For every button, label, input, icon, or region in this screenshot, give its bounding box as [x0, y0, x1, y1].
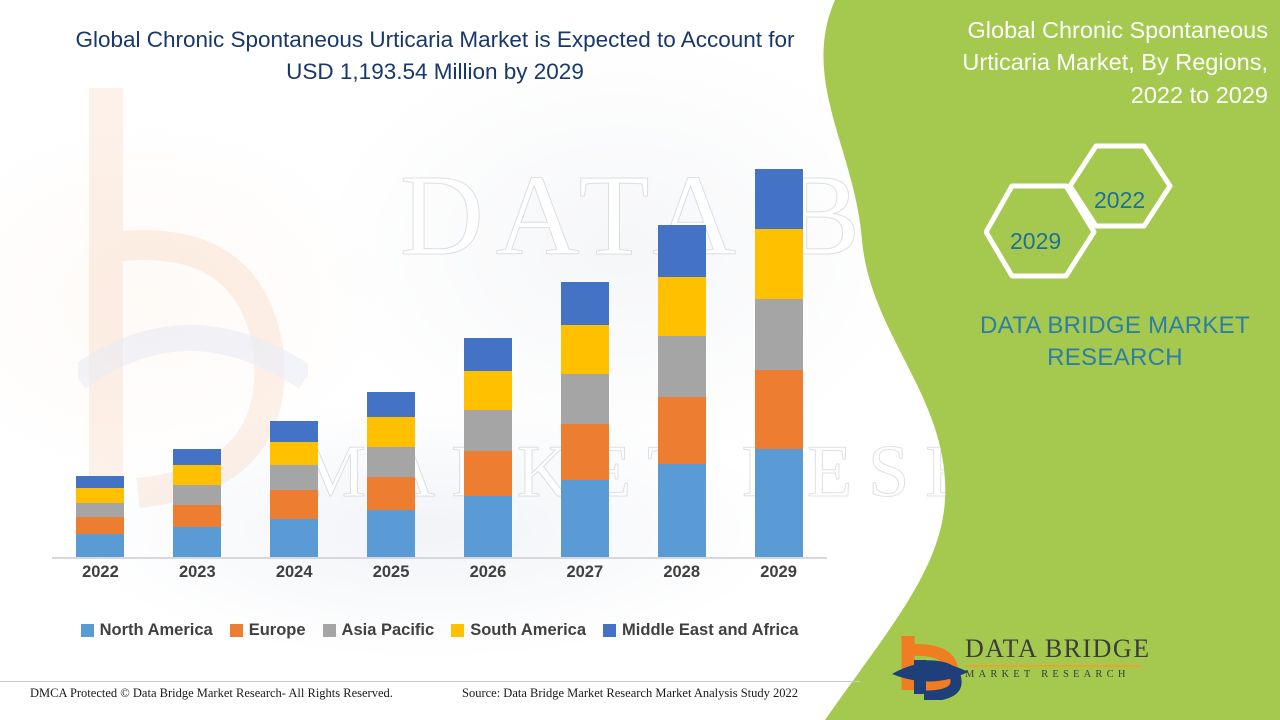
bar-segment-north-america[interactable]: [270, 519, 318, 557]
stacked-bar[interactable]: [658, 225, 706, 557]
x-axis-label: 2024: [246, 563, 342, 593]
bar-segment-north-america[interactable]: [173, 527, 221, 557]
legend-swatch: [603, 624, 616, 637]
legend-label: Middle East and Africa: [622, 621, 798, 640]
footer-divider: [0, 681, 860, 682]
bar-segment-europe[interactable]: [76, 517, 124, 534]
bar-segment-europe[interactable]: [561, 424, 609, 480]
bar-segment-europe[interactable]: [173, 505, 221, 527]
x-axis-label: 2022: [52, 563, 148, 593]
x-axis-label: 2025: [343, 563, 439, 593]
bar-column: [537, 120, 633, 557]
legend-swatch: [323, 624, 336, 637]
legend-item[interactable]: South America: [451, 621, 586, 640]
x-axis-line: [52, 557, 827, 559]
logo-main-text: DATA BRIDGE: [965, 636, 1165, 662]
logo-divider: [966, 665, 1141, 667]
stacked-bar[interactable]: [173, 449, 221, 557]
hex-year-start: 2022: [1094, 187, 1145, 214]
bar-segment-asia-pacific[interactable]: [367, 447, 415, 477]
bar-segment-middle-east-and-africa[interactable]: [76, 476, 124, 488]
legend-swatch: [230, 624, 243, 637]
hex-year-end: 2029: [1010, 228, 1061, 255]
bar-segment-south-america[interactable]: [464, 371, 512, 411]
bar-segment-south-america[interactable]: [367, 417, 415, 447]
legend-swatch: [81, 624, 94, 637]
legend-item[interactable]: Middle East and Africa: [603, 621, 798, 640]
chart-legend: North AmericaEuropeAsia PacificSouth Ame…: [52, 617, 827, 643]
footer-dmca: DMCA Protected © Data Bridge Market Rese…: [30, 686, 393, 701]
bar-segment-asia-pacific[interactable]: [561, 374, 609, 424]
legend-label: Asia Pacific: [342, 621, 435, 640]
legend-label: Europe: [249, 621, 306, 640]
legend-item[interactable]: Europe: [230, 621, 306, 640]
bar-column: [343, 120, 439, 557]
bar-segment-europe[interactable]: [367, 477, 415, 510]
bar-segment-north-america[interactable]: [367, 510, 415, 557]
stacked-bar[interactable]: [76, 476, 124, 557]
bar-segment-europe[interactable]: [658, 397, 706, 465]
x-axis-label: 2027: [537, 563, 633, 593]
legend-swatch: [451, 624, 464, 637]
bar-column: [731, 120, 827, 557]
bar-segment-south-america[interactable]: [755, 229, 803, 299]
legend-label: South America: [470, 621, 586, 640]
bar-segment-middle-east-and-africa[interactable]: [561, 282, 609, 325]
bar-segment-asia-pacific[interactable]: [658, 336, 706, 396]
bar-series-area: [52, 120, 827, 557]
bar-segment-europe[interactable]: [755, 370, 803, 449]
bar-segment-south-america[interactable]: [561, 325, 609, 374]
footer-source: Source: Data Bridge Market Research Mark…: [462, 686, 798, 701]
bar-segment-middle-east-and-africa[interactable]: [173, 449, 221, 466]
stacked-bar[interactable]: [270, 421, 318, 557]
legend-item[interactable]: North America: [81, 621, 213, 640]
bar-chart: 20222023202420252026202720282029 North A…: [0, 0, 860, 720]
bar-column: [52, 120, 148, 557]
x-axis-label: 2029: [731, 563, 827, 593]
bar-segment-south-america[interactable]: [658, 277, 706, 336]
bar-segment-north-america[interactable]: [464, 496, 512, 557]
stacked-bar[interactable]: [367, 392, 415, 557]
bar-segment-middle-east-and-africa[interactable]: [658, 225, 706, 277]
bar-segment-north-america[interactable]: [76, 534, 124, 557]
bar-segment-asia-pacific[interactable]: [270, 465, 318, 490]
infographic-root: DATA BRIDGE MARKET RESEARCH Global Chron…: [0, 0, 1280, 720]
legend-item[interactable]: Asia Pacific: [323, 621, 435, 640]
x-axis-label: 2028: [634, 563, 730, 593]
x-axis-label: 2026: [440, 563, 536, 593]
stacked-bar[interactable]: [464, 337, 512, 557]
bar-segment-south-america[interactable]: [270, 442, 318, 466]
logo-text-block: DATA BRIDGE MARKET RESEARCH: [965, 636, 1165, 680]
bar-segment-south-america[interactable]: [76, 488, 124, 503]
bar-segment-asia-pacific[interactable]: [464, 410, 512, 451]
x-axis-label: 2023: [149, 563, 245, 593]
bar-segment-europe[interactable]: [464, 451, 512, 496]
panel-brand-text: DATA BRIDGE MARKET RESEARCH: [955, 310, 1275, 375]
bar-segment-europe[interactable]: [270, 490, 318, 518]
bar-segment-asia-pacific[interactable]: [755, 299, 803, 370]
bar-column: [149, 120, 245, 557]
bar-column: [634, 120, 730, 557]
bar-segment-middle-east-and-africa[interactable]: [755, 169, 803, 229]
bar-segment-middle-east-and-africa[interactable]: [270, 421, 318, 442]
bar-column: [440, 120, 536, 557]
panel-title: Global Chronic Spontaneous Urticaria Mar…: [908, 14, 1268, 111]
stacked-bar[interactable]: [755, 169, 803, 557]
bar-segment-north-america[interactable]: [658, 464, 706, 557]
bar-segment-north-america[interactable]: [755, 449, 803, 557]
bar-segment-north-america[interactable]: [561, 480, 609, 557]
stacked-bar[interactable]: [561, 282, 609, 557]
legend-label: North America: [100, 621, 213, 640]
bar-segment-middle-east-and-africa[interactable]: [464, 338, 512, 371]
hexagon-badges: 2022 2029: [984, 140, 1184, 280]
x-axis-labels: 20222023202420252026202720282029: [52, 563, 827, 593]
bar-column: [246, 120, 342, 557]
bar-segment-asia-pacific[interactable]: [76, 503, 124, 518]
logo-sub-text: MARKET RESEARCH: [965, 669, 1165, 680]
hexagon-outline-icon: [984, 140, 1184, 280]
bar-segment-middle-east-and-africa[interactable]: [367, 392, 415, 417]
bar-segment-asia-pacific[interactable]: [173, 485, 221, 505]
bar-segment-south-america[interactable]: [173, 465, 221, 485]
